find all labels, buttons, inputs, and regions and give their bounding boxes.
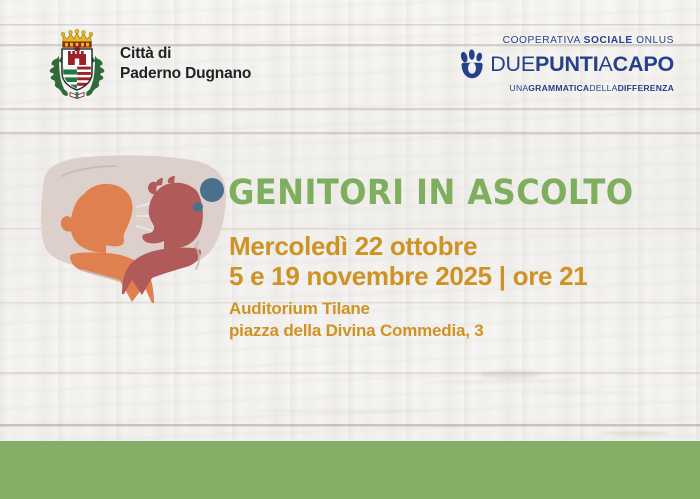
wood-grain-streak [520, 392, 640, 394]
page-title: GENITORI IN ASCOLTO [228, 176, 633, 211]
blue-dot-large [200, 178, 224, 202]
coop-tag-differenza: DIFFERENZA [618, 83, 674, 93]
event-date-line-1: Mercoledì 22 ottobre [229, 232, 689, 262]
venue-address: piazza della Divina Commedia, 3 [229, 320, 689, 342]
wood-grain-knot [480, 370, 540, 379]
blue-dot-small [193, 202, 203, 212]
coop-tag-della: DELLA [589, 83, 617, 93]
wood-grain-streak [250, 410, 430, 412]
coop-top-plain-a: COOPERATIVA [503, 35, 584, 46]
coat-of-arms-icon [48, 28, 106, 100]
coop-name-label: DUEPUNTIACAPO [490, 54, 674, 76]
coop-tag-grammatica: GRAMMATICA [528, 83, 589, 93]
coop-name-row: DUEPUNTIACAPO [466, 49, 674, 81]
coop-tag-una: UNA [510, 83, 529, 93]
coop-tagline-bottom: UNAGRAMMATICADELLADIFFERENZA [466, 84, 674, 93]
venue-name: Auditorium Tilane [229, 298, 689, 320]
two-people-talking-illustration [28, 150, 260, 305]
coop-tagline-top: COOPERATIVA SOCIALE ONLUS [466, 36, 674, 46]
event-poster: Città di Paderno Dugnano COOPERATIVA SOC… [0, 0, 700, 499]
poster-header: Città di Paderno Dugnano COOPERATIVA SOC… [0, 0, 700, 118]
footer-green-band [0, 441, 700, 499]
coop-name-a: A [599, 52, 613, 76]
event-date-line-2: 5 e 19 novembre 2025 | ore 21 [229, 262, 689, 292]
event-details: Mercoledì 22 ottobre 5 e 19 novembre 202… [229, 232, 689, 342]
coop-name-due: DUE [490, 52, 535, 76]
coop-top-plain-b: ONLUS [633, 35, 674, 46]
cooperative-logo: COOPERATIVA SOCIALE ONLUS DUEPUNTIACAPO … [466, 36, 674, 93]
coop-name-capo: CAPO [613, 52, 674, 76]
hand-palm-icon [459, 49, 485, 79]
coop-top-bold: SOCIALE [584, 35, 633, 46]
wood-grain-streak [600, 432, 670, 435]
coop-name-punti: PUNTI [535, 52, 599, 76]
city-name-label: Città di Paderno Dugnano [120, 44, 251, 85]
city-logo: Città di Paderno Dugnano [48, 28, 251, 100]
